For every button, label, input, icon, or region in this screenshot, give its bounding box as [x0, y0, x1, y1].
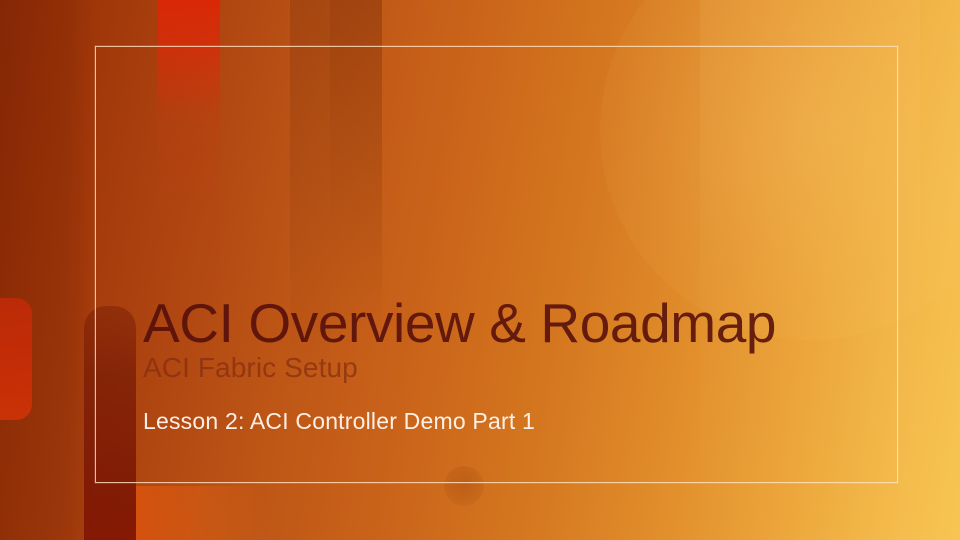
- background-dark-vertical-bar: [84, 306, 136, 540]
- background-rounded-rect-left: [0, 298, 32, 420]
- background-band-red: [158, 0, 220, 540]
- background-band-left-shadow: [0, 0, 96, 540]
- lesson-label: Lesson 2: ACI Controller Demo Part 1: [143, 406, 843, 436]
- slide-text-block: ACI Overview & Roadmap ACI Fabric Setup …: [143, 292, 843, 436]
- background-band-warm-right: [700, 0, 920, 540]
- background-orange-patch: [136, 486, 266, 540]
- background-circle-accent: [444, 466, 484, 506]
- background-sheen-highlight: [600, 0, 960, 340]
- background-band-dark-two: [330, 0, 382, 540]
- page-subtitle: ACI Fabric Setup: [143, 350, 843, 386]
- background-band-dark-one: [290, 0, 330, 540]
- title-slide: ACI Overview & Roadmap ACI Fabric Setup …: [0, 0, 960, 540]
- page-title: ACI Overview & Roadmap: [143, 292, 843, 354]
